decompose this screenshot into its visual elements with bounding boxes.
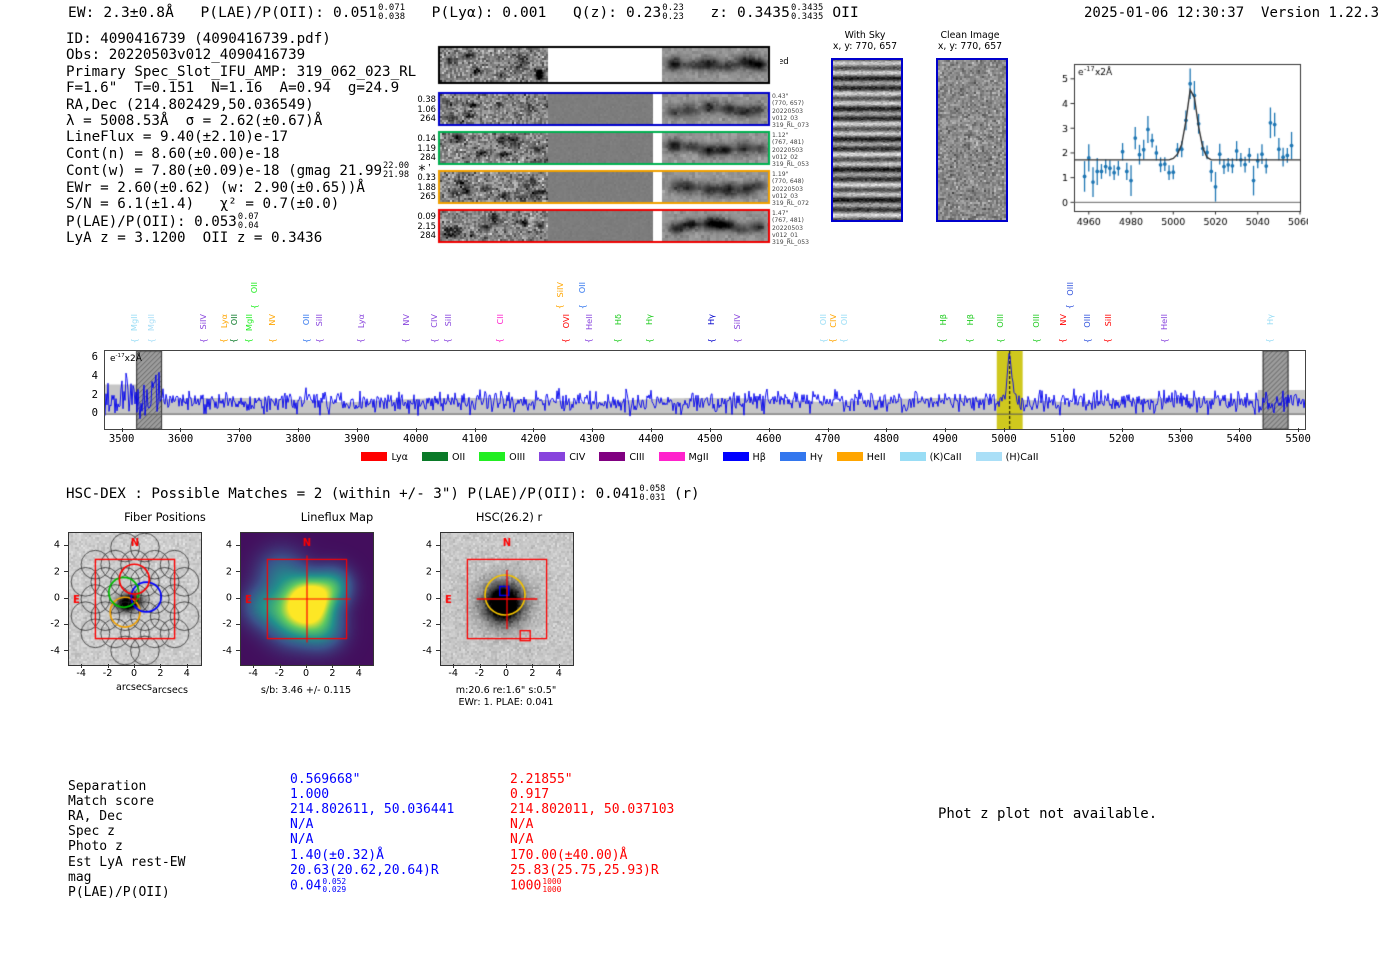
legend-item: Lyα bbox=[361, 452, 407, 463]
match-value-red: 2.21855" bbox=[510, 772, 573, 787]
info-cont-w: Cont(w) = 7.80(±0.09)e-18 (gmag 21.9922.… bbox=[66, 162, 435, 180]
panel-x-tick: -2 bbox=[103, 668, 113, 679]
panel-x-tickmark bbox=[480, 664, 481, 668]
emission-line-label: OVI bbox=[561, 314, 571, 328]
panel-y-tickmark bbox=[436, 650, 440, 651]
header-plya: P(Lyα): 0.001 bbox=[432, 5, 547, 21]
legend-swatch bbox=[361, 452, 387, 461]
emission-line-brace: { bbox=[249, 304, 259, 309]
legend-label: OIII bbox=[509, 452, 525, 463]
legend-label: Lyα bbox=[391, 452, 407, 463]
panel-y-tickmark bbox=[64, 650, 68, 651]
emission-line-label: OII bbox=[839, 314, 849, 325]
panel-x-tickmark bbox=[306, 664, 307, 668]
match-value-blue: 214.802611, 50.036441 bbox=[290, 802, 454, 817]
emission-line-label: OIII bbox=[1082, 314, 1092, 328]
info-lineflux: LineFlux = 9.40(±2.10)e-17 bbox=[66, 129, 435, 145]
emission-line-label: CIV bbox=[828, 314, 838, 328]
legend-label: CIV bbox=[569, 452, 585, 463]
emission-line-brace: { bbox=[560, 338, 570, 343]
header-z-type: OII bbox=[832, 5, 859, 21]
panel-x-tick: 4 bbox=[356, 668, 362, 679]
emission-line-brace: { bbox=[228, 338, 238, 343]
legend-label: HeII bbox=[867, 452, 886, 463]
spectrum-x-tick: 3500 bbox=[109, 433, 135, 445]
legend-item: (K)CaII bbox=[900, 452, 962, 463]
spectrum-x-tickmark bbox=[1239, 428, 1240, 432]
emission-line-brace: { bbox=[198, 338, 208, 343]
legend-swatch bbox=[539, 452, 565, 461]
panel-x-tick: -4 bbox=[76, 668, 86, 679]
panel-y-tick: 2 bbox=[426, 566, 432, 577]
spectrum-x-tickmark bbox=[769, 428, 770, 432]
panel-y-tickmark bbox=[236, 545, 240, 546]
match-value-blue: N/A bbox=[290, 832, 313, 847]
emission-line-brace: { bbox=[1264, 338, 1274, 343]
cutout-title-cleanimage: Clean Imagex, y: 770, 657 bbox=[925, 30, 1015, 52]
twod-row-meta: 1.12"(767, 481)20220503v012_02319_RL_053 bbox=[772, 132, 809, 168]
panel-x-tickmark bbox=[359, 664, 360, 668]
spectrum-x-tickmark bbox=[592, 428, 593, 432]
emission-line-brace: { bbox=[964, 338, 974, 343]
spectrum-y-tick: 6 bbox=[78, 351, 98, 363]
emission-line-label: SiIV bbox=[198, 314, 208, 330]
panel-x-tick: -2 bbox=[475, 668, 485, 679]
fiber-xlabel: arcsecs bbox=[116, 682, 152, 693]
panel-x-tick: 2 bbox=[157, 668, 163, 679]
legend-label: Hγ bbox=[810, 452, 823, 463]
panel-x-tickmark bbox=[332, 664, 333, 668]
header-summary-line: EW: 2.3±0.8Å P(LAE)/P(OII): 0.0510.0710.… bbox=[68, 4, 859, 22]
panel-y-tickmark bbox=[64, 571, 68, 572]
twod-spec-panel-group: 2D Spec Pixel Flat Smoothed WeightedSum … bbox=[430, 34, 780, 249]
match-value-red: 100010001000 bbox=[510, 878, 561, 894]
emission-line-canvas bbox=[1038, 56, 1308, 241]
spectrum-x-tick: 3900 bbox=[344, 433, 370, 445]
spectrum-x-tick: 3800 bbox=[285, 433, 311, 445]
emission-line-label: Hγ bbox=[706, 314, 716, 325]
spectrum-legend: LyαOIIOIIICIVCIIIMgIIHβHγHeII(K)CaII(H)C… bbox=[0, 452, 1400, 463]
panel-y-tick: 0 bbox=[426, 593, 432, 604]
emission-line-label: SiIV bbox=[732, 314, 742, 330]
header-z-range: 0.34350.3435 bbox=[791, 4, 824, 22]
info-cont-n: Cont(n) = 8.60(±0.00)e-18 bbox=[66, 146, 435, 162]
spectrum-x-tick: 5400 bbox=[1227, 433, 1253, 445]
header-plae-value: 0.051 bbox=[333, 5, 377, 21]
panel-x-tick: -4 bbox=[448, 668, 458, 679]
spectrum-x-tickmark bbox=[357, 428, 358, 432]
hsc-r-image bbox=[440, 532, 574, 666]
emission-line-label: OII bbox=[249, 282, 259, 293]
panel-y-tick: 2 bbox=[226, 566, 232, 577]
emission-line-brace: { bbox=[400, 338, 410, 343]
panel-y-tick: -2 bbox=[422, 619, 432, 630]
info-plae: P(LAE)/P(OII): 0.0530.070.04 bbox=[66, 213, 435, 231]
info-primary-spec: Primary Spec_Slot_IFU_AMP: 319_062_023_R… bbox=[66, 64, 435, 80]
emission-line-brace: { bbox=[355, 338, 365, 343]
twod-row-meta: 0.43"(770, 657)20220503v012_03319_RL_073 bbox=[772, 93, 809, 129]
legend-item: CIV bbox=[539, 452, 585, 463]
emission-line-label: SiII bbox=[314, 314, 324, 326]
twod-row-stats: 0.131.88265 bbox=[402, 173, 436, 202]
emission-line-label: NV bbox=[401, 314, 411, 326]
header-plae-label: P(LAE)/P(OII): bbox=[200, 5, 324, 21]
hsc-dex-headline: HSC-DEX : Possible Matches = 2 (within +… bbox=[66, 485, 700, 503]
panel-x-tickmark bbox=[506, 664, 507, 668]
emission-line-brace: { bbox=[314, 338, 324, 343]
spectrum-x-tickmark bbox=[239, 428, 240, 432]
emission-line-brace: { bbox=[429, 338, 439, 343]
emission-line-brace: { bbox=[1031, 338, 1041, 343]
emission-line-label: HeII bbox=[584, 314, 594, 330]
emission-line-brace: { bbox=[1159, 338, 1169, 343]
panel-x-tickmark bbox=[453, 664, 454, 668]
spectrum-x-tick: 5100 bbox=[1050, 433, 1076, 445]
match-row-label: mag bbox=[68, 870, 91, 885]
match-value-red: 25.83(25.75,25.93)R bbox=[510, 863, 659, 878]
panel-y-tickmark bbox=[436, 545, 440, 546]
match-row-label: Est LyA rest-EW bbox=[68, 855, 185, 870]
spectrum-x-tick: 5200 bbox=[1109, 433, 1135, 445]
info-sn: S/N = 6.1(±1.4) χ² = 0.7(±0.0) bbox=[66, 196, 435, 212]
emission-line-label: CII bbox=[495, 314, 505, 325]
emission-line-brace: { bbox=[838, 338, 848, 343]
header-plae-range: 0.0710.038 bbox=[378, 4, 405, 22]
panel-y-tickmark bbox=[236, 598, 240, 599]
emission-line-label: MgII bbox=[146, 314, 156, 331]
version-label: Version 1.22.3 bbox=[1261, 5, 1379, 21]
legend-label: CIII bbox=[629, 452, 644, 463]
emission-line-brace: { bbox=[1082, 338, 1092, 343]
info-seeing: F=1.6" T=0.151 N=1.16 A=0.94 g=24.9 bbox=[66, 80, 435, 96]
panel-x-tick: -2 bbox=[275, 668, 285, 679]
emission-line-brace: { bbox=[554, 304, 564, 309]
spectrum-x-tickmark bbox=[945, 428, 946, 432]
spectrum-x-tick: 3700 bbox=[227, 433, 253, 445]
panel-x-tick: 2 bbox=[529, 668, 535, 679]
panel-y-tick: 0 bbox=[226, 593, 232, 604]
spectrum-x-tick: 4500 bbox=[697, 433, 723, 445]
source-info-block: ID: 4090416739 (4090416739.pdf) Obs: 202… bbox=[66, 31, 435, 247]
spectrum-x-tickmark bbox=[533, 428, 534, 432]
panel-y-tickmark bbox=[436, 571, 440, 572]
cutout-title-withsky: With Skyx, y: 770, 657 bbox=[820, 30, 910, 52]
panel-x-tick: 0 bbox=[503, 668, 509, 679]
emission-line-label: OII bbox=[577, 282, 587, 293]
spectrum-x-tickmark bbox=[122, 428, 123, 432]
legend-label: (K)CaII bbox=[930, 452, 962, 463]
twod-row-stats: 0.092.15284 bbox=[402, 212, 436, 241]
spectrum-y-tick: 0 bbox=[78, 407, 98, 419]
emission-line-label: Hβ bbox=[965, 314, 975, 325]
match-value-red: 0.917 bbox=[510, 787, 549, 802]
spectrum-x-tickmark bbox=[886, 428, 887, 432]
legend-swatch bbox=[780, 452, 806, 461]
emission-line-label: SiII bbox=[1103, 314, 1113, 326]
match-row-label: Separation bbox=[68, 779, 146, 794]
panel-x-tickmark bbox=[134, 664, 135, 668]
full-spectrum-canvas bbox=[104, 350, 1306, 430]
timestamp: 2025-01-06 12:30:37 bbox=[1084, 5, 1244, 21]
panel-x-tick: 4 bbox=[184, 668, 190, 679]
emission-line-brace: { bbox=[827, 338, 837, 343]
emission-line-brace: { bbox=[612, 338, 622, 343]
info-plae-range: 0.070.04 bbox=[238, 213, 259, 231]
info-ewr: EWr = 2.60(±0.62) (w: 2.90(±0.65))Å bbox=[66, 180, 435, 196]
emission-line-label: Hγ bbox=[1265, 314, 1275, 325]
legend-label: Hβ bbox=[753, 452, 766, 463]
panel-x-tick: 4 bbox=[556, 668, 562, 679]
emission-line-brace: { bbox=[1064, 304, 1074, 309]
emission-line-brace: { bbox=[732, 338, 742, 343]
emission-line-brace: { bbox=[301, 338, 311, 343]
legend-item: MgII bbox=[659, 452, 709, 463]
emission-line-brace: { bbox=[218, 338, 228, 343]
legend-item: CIII bbox=[599, 452, 644, 463]
spectrum-x-tick: 5300 bbox=[1168, 433, 1194, 445]
panel-y-tickmark bbox=[64, 545, 68, 546]
spectrum-x-tick: 4800 bbox=[874, 433, 900, 445]
emission-line-label: OII bbox=[229, 314, 239, 325]
legend-swatch bbox=[422, 452, 448, 461]
panel-y-tick: 0 bbox=[54, 593, 60, 604]
legend-swatch bbox=[837, 452, 863, 461]
spectrum-x-tick: 4100 bbox=[462, 433, 488, 445]
emission-line-brace: { bbox=[146, 338, 156, 343]
legend-swatch bbox=[659, 452, 685, 461]
emission-line-brace: { bbox=[577, 304, 587, 309]
spectrum-x-tickmark bbox=[1004, 428, 1005, 432]
panel-x-tickmark bbox=[108, 664, 109, 668]
emission-line-brace: { bbox=[706, 338, 716, 343]
hsc-headline-text: HSC-DEX : Possible Matches = 2 (within +… bbox=[66, 486, 587, 502]
panel-y-tick: -4 bbox=[50, 645, 60, 656]
panel-y-tick: 4 bbox=[426, 540, 432, 551]
info-obs: Obs: 20220503v012_4090416739 bbox=[66, 47, 435, 63]
with-sky-image bbox=[831, 58, 903, 222]
panel-x-tickmark bbox=[160, 664, 161, 668]
hsc-plae-range: 0.0580.031 bbox=[639, 485, 665, 503]
info-lambda: λ = 5008.53Å σ = 2.62(±0.67)Å bbox=[66, 113, 435, 129]
header-ew: EW: 2.3±0.8Å bbox=[68, 5, 174, 21]
spectrum-y-tick: 4 bbox=[78, 370, 98, 382]
match-row-label: P(LAE)/P(OII) bbox=[68, 885, 170, 900]
spectrum-x-tick: 4300 bbox=[579, 433, 605, 445]
emission-line-label: CIV bbox=[429, 314, 439, 328]
legend-item: (H)CaII bbox=[976, 452, 1039, 463]
hsc-plae-value: 0.041 bbox=[596, 486, 639, 502]
emission-line-label: MgII bbox=[129, 314, 139, 331]
emission-line-brace: { bbox=[442, 338, 452, 343]
emission-line-label: OIII bbox=[1031, 314, 1041, 328]
match-value-red: 170.00(±40.00)Å bbox=[510, 848, 627, 863]
legend-label: OII bbox=[452, 452, 465, 463]
emission-line-label: OII bbox=[301, 314, 311, 325]
emission-line-label: OIII bbox=[1065, 282, 1075, 296]
legend-swatch bbox=[900, 452, 926, 461]
emission-line-label: Lyα bbox=[356, 314, 366, 328]
spectrum-y-tick: 2 bbox=[78, 389, 98, 401]
emission-line-brace: { bbox=[494, 338, 504, 343]
match-value-blue: 1.000 bbox=[290, 787, 329, 802]
emission-line-brace: { bbox=[995, 338, 1005, 343]
spectrum-x-tick: 5500 bbox=[1285, 433, 1311, 445]
twod-spec-canvas bbox=[430, 34, 780, 249]
spectrum-x-tickmark bbox=[1063, 428, 1064, 432]
emission-line-label: MgII bbox=[244, 314, 254, 331]
info-redshifts: LyA z = 3.1200 OII z = 0.3436 bbox=[66, 230, 435, 246]
legend-item: HeII bbox=[837, 452, 886, 463]
emission-line-brace: { bbox=[243, 338, 253, 343]
panel-y-tickmark bbox=[236, 624, 240, 625]
legend-item: Hβ bbox=[723, 452, 766, 463]
panel-y-tick: 4 bbox=[54, 540, 60, 551]
header-qz-range: 0.230.23 bbox=[662, 4, 684, 22]
emission-line-label: OII bbox=[818, 314, 828, 325]
legend-label: MgII bbox=[689, 452, 709, 463]
info-radec: RA,Dec (214.802429,50.036549) bbox=[66, 97, 435, 113]
emission-line-label: OIII bbox=[995, 314, 1005, 328]
panel-y-tick: -4 bbox=[422, 645, 432, 656]
spectrum-flux-unit: e-17x2Å bbox=[110, 354, 142, 364]
emission-line-label: SiII bbox=[443, 314, 453, 326]
match-value-blue: 20.63(20.62,20.64)R bbox=[290, 863, 439, 878]
legend-label: (H)CaII bbox=[1006, 452, 1039, 463]
panel-x-tick: 0 bbox=[131, 668, 137, 679]
spectrum-x-tickmark bbox=[710, 428, 711, 432]
panel-y-tick: -2 bbox=[222, 619, 232, 630]
hsc-panel-caption: m:20.6 re:1.6" s:0.5"EWr: 1. PLAE: 0.041 bbox=[400, 685, 612, 709]
panel-title-hsc-r: HSC(26.2) r bbox=[404, 510, 614, 524]
emission-line-brace: { bbox=[583, 338, 593, 343]
spectrum-x-tick: 5000 bbox=[991, 433, 1017, 445]
spectrum-x-tick: 4600 bbox=[756, 433, 782, 445]
emission-line-label: Hγ bbox=[644, 314, 654, 325]
panel-y-tickmark bbox=[236, 571, 240, 572]
twod-row-meta: 1.47"(767, 481)20220503v012_01319_RL_053 bbox=[772, 210, 809, 246]
spectrum-x-tick: 3600 bbox=[168, 433, 194, 445]
spectrum-x-tick: 4200 bbox=[521, 433, 547, 445]
spectrum-x-tickmark bbox=[416, 428, 417, 432]
panel-y-tickmark bbox=[236, 650, 240, 651]
panel-x-tickmark bbox=[253, 664, 254, 668]
lineflux-map-image bbox=[240, 532, 374, 666]
spectrum-x-tickmark bbox=[651, 428, 652, 432]
match-value-red: 214.802011, 50.037103 bbox=[510, 802, 674, 817]
match-value-blue: N/A bbox=[290, 817, 313, 832]
spectrum-x-tickmark bbox=[180, 428, 181, 432]
emission-line-zoom-plot bbox=[1038, 56, 1308, 241]
panel-y-tick: 2 bbox=[54, 566, 60, 577]
image-panel-group: Fiber Positions Lineflux Map HSC(26.2) r… bbox=[0, 510, 1400, 745]
emission-line-brace: { bbox=[129, 338, 139, 343]
panel-x-tickmark bbox=[559, 664, 560, 668]
panel-x-tick: -4 bbox=[248, 668, 258, 679]
legend-item: OIII bbox=[479, 452, 525, 463]
panel-x-tickmark bbox=[280, 664, 281, 668]
spectrum-x-tick: 4900 bbox=[932, 433, 958, 445]
fiber-positions-image bbox=[68, 532, 202, 666]
match-value-blue: 1.40(±0.32)Å bbox=[290, 848, 384, 863]
match-row-label: Photo z bbox=[68, 839, 123, 854]
header-qz-label: Q(z): bbox=[573, 5, 617, 21]
twod-row-stats: 0.381.06264 bbox=[402, 95, 436, 124]
spectrum-x-tickmark bbox=[1180, 428, 1181, 432]
match-value-blue: 0.569668" bbox=[290, 772, 360, 787]
clean-image bbox=[936, 58, 1008, 222]
panel-x-tick: 2 bbox=[329, 668, 335, 679]
hsc-plae-band: (r) bbox=[674, 486, 700, 502]
legend-item: OII bbox=[422, 452, 465, 463]
panel-y-tick: -4 bbox=[222, 645, 232, 656]
match-row-label: RA, Dec bbox=[68, 809, 123, 824]
spectrum-x-tickmark bbox=[475, 428, 476, 432]
photoz-note: Phot z plot not available. bbox=[938, 806, 1157, 822]
panel-y-tick: 4 bbox=[226, 540, 232, 551]
panel-y-tickmark bbox=[64, 624, 68, 625]
emission-line-label: NV bbox=[1058, 314, 1068, 326]
panel-y-tickmark bbox=[436, 624, 440, 625]
emission-line-brace: { bbox=[644, 338, 654, 343]
spectrum-x-tick: 4400 bbox=[638, 433, 664, 445]
header-qz-value: 0.23 bbox=[626, 5, 661, 21]
spectrum-x-tickmark bbox=[1298, 428, 1299, 432]
emission-line-label: Hβ bbox=[938, 314, 948, 325]
emission-line-brace: { bbox=[937, 338, 947, 343]
emission-line-brace: { bbox=[267, 338, 277, 343]
legend-swatch bbox=[479, 452, 505, 461]
lineflux-panel-caption: s/b: 3.46 +/- 0.115 bbox=[200, 685, 412, 697]
twod-row-meta: 1.19"(770, 648)20220503v012_03319_RL_072 bbox=[772, 171, 809, 207]
match-value-red: N/A bbox=[510, 832, 533, 847]
header-z-label: z: bbox=[710, 5, 728, 21]
panel-x-tickmark bbox=[81, 664, 82, 668]
spectrum-x-tick: 4700 bbox=[815, 433, 841, 445]
panel-y-tickmark bbox=[64, 598, 68, 599]
spectrum-x-tickmark bbox=[1122, 428, 1123, 432]
twod-row-stats: 0.141.19284 bbox=[402, 134, 436, 163]
match-value-blue: 0.040.0520.029 bbox=[290, 878, 346, 894]
legend-swatch bbox=[723, 452, 749, 461]
emission-line-label: SiIV bbox=[555, 282, 565, 298]
match-value-red: N/A bbox=[510, 817, 533, 832]
panel-x-tickmark bbox=[532, 664, 533, 668]
info-id: ID: 4090416739 (4090416739.pdf) bbox=[66, 31, 435, 47]
cutout-panel-group: With Skyx, y: 770, 657 Clean Imagex, y: … bbox=[820, 30, 1020, 245]
legend-swatch bbox=[976, 452, 1002, 461]
spectrum-x-tickmark bbox=[828, 428, 829, 432]
legend-item: Hγ bbox=[780, 452, 823, 463]
spectrum-x-tickmark bbox=[298, 428, 299, 432]
panel-y-tick: -2 bbox=[50, 619, 60, 630]
panel-y-tickmark bbox=[436, 598, 440, 599]
emission-line-label: HeII bbox=[1159, 314, 1169, 330]
full-spectrum-section: MgII{MgII{SiIV{OII{Lyα{OII{MgII{NV{OII{S… bbox=[0, 270, 1400, 470]
emission-line-label: Hδ bbox=[613, 314, 623, 325]
match-row-label: Spec z bbox=[68, 824, 115, 839]
panel-x-tick: 0 bbox=[303, 668, 309, 679]
panel-x-tickmark bbox=[187, 664, 188, 668]
match-row-label: Match score bbox=[68, 794, 154, 809]
legend-swatch bbox=[599, 452, 625, 461]
emission-line-brace: { bbox=[1057, 338, 1067, 343]
emission-line-label: Lyα bbox=[219, 314, 229, 328]
header-z-value: 0.3435 bbox=[737, 5, 790, 21]
emission-line-brace: { bbox=[1102, 338, 1112, 343]
emission-line-label: NV bbox=[267, 314, 277, 326]
header-timestamp-version: 2025-01-06 12:30:37 Version 1.22.3 bbox=[1084, 5, 1379, 21]
spectrum-x-tick: 4000 bbox=[403, 433, 429, 445]
